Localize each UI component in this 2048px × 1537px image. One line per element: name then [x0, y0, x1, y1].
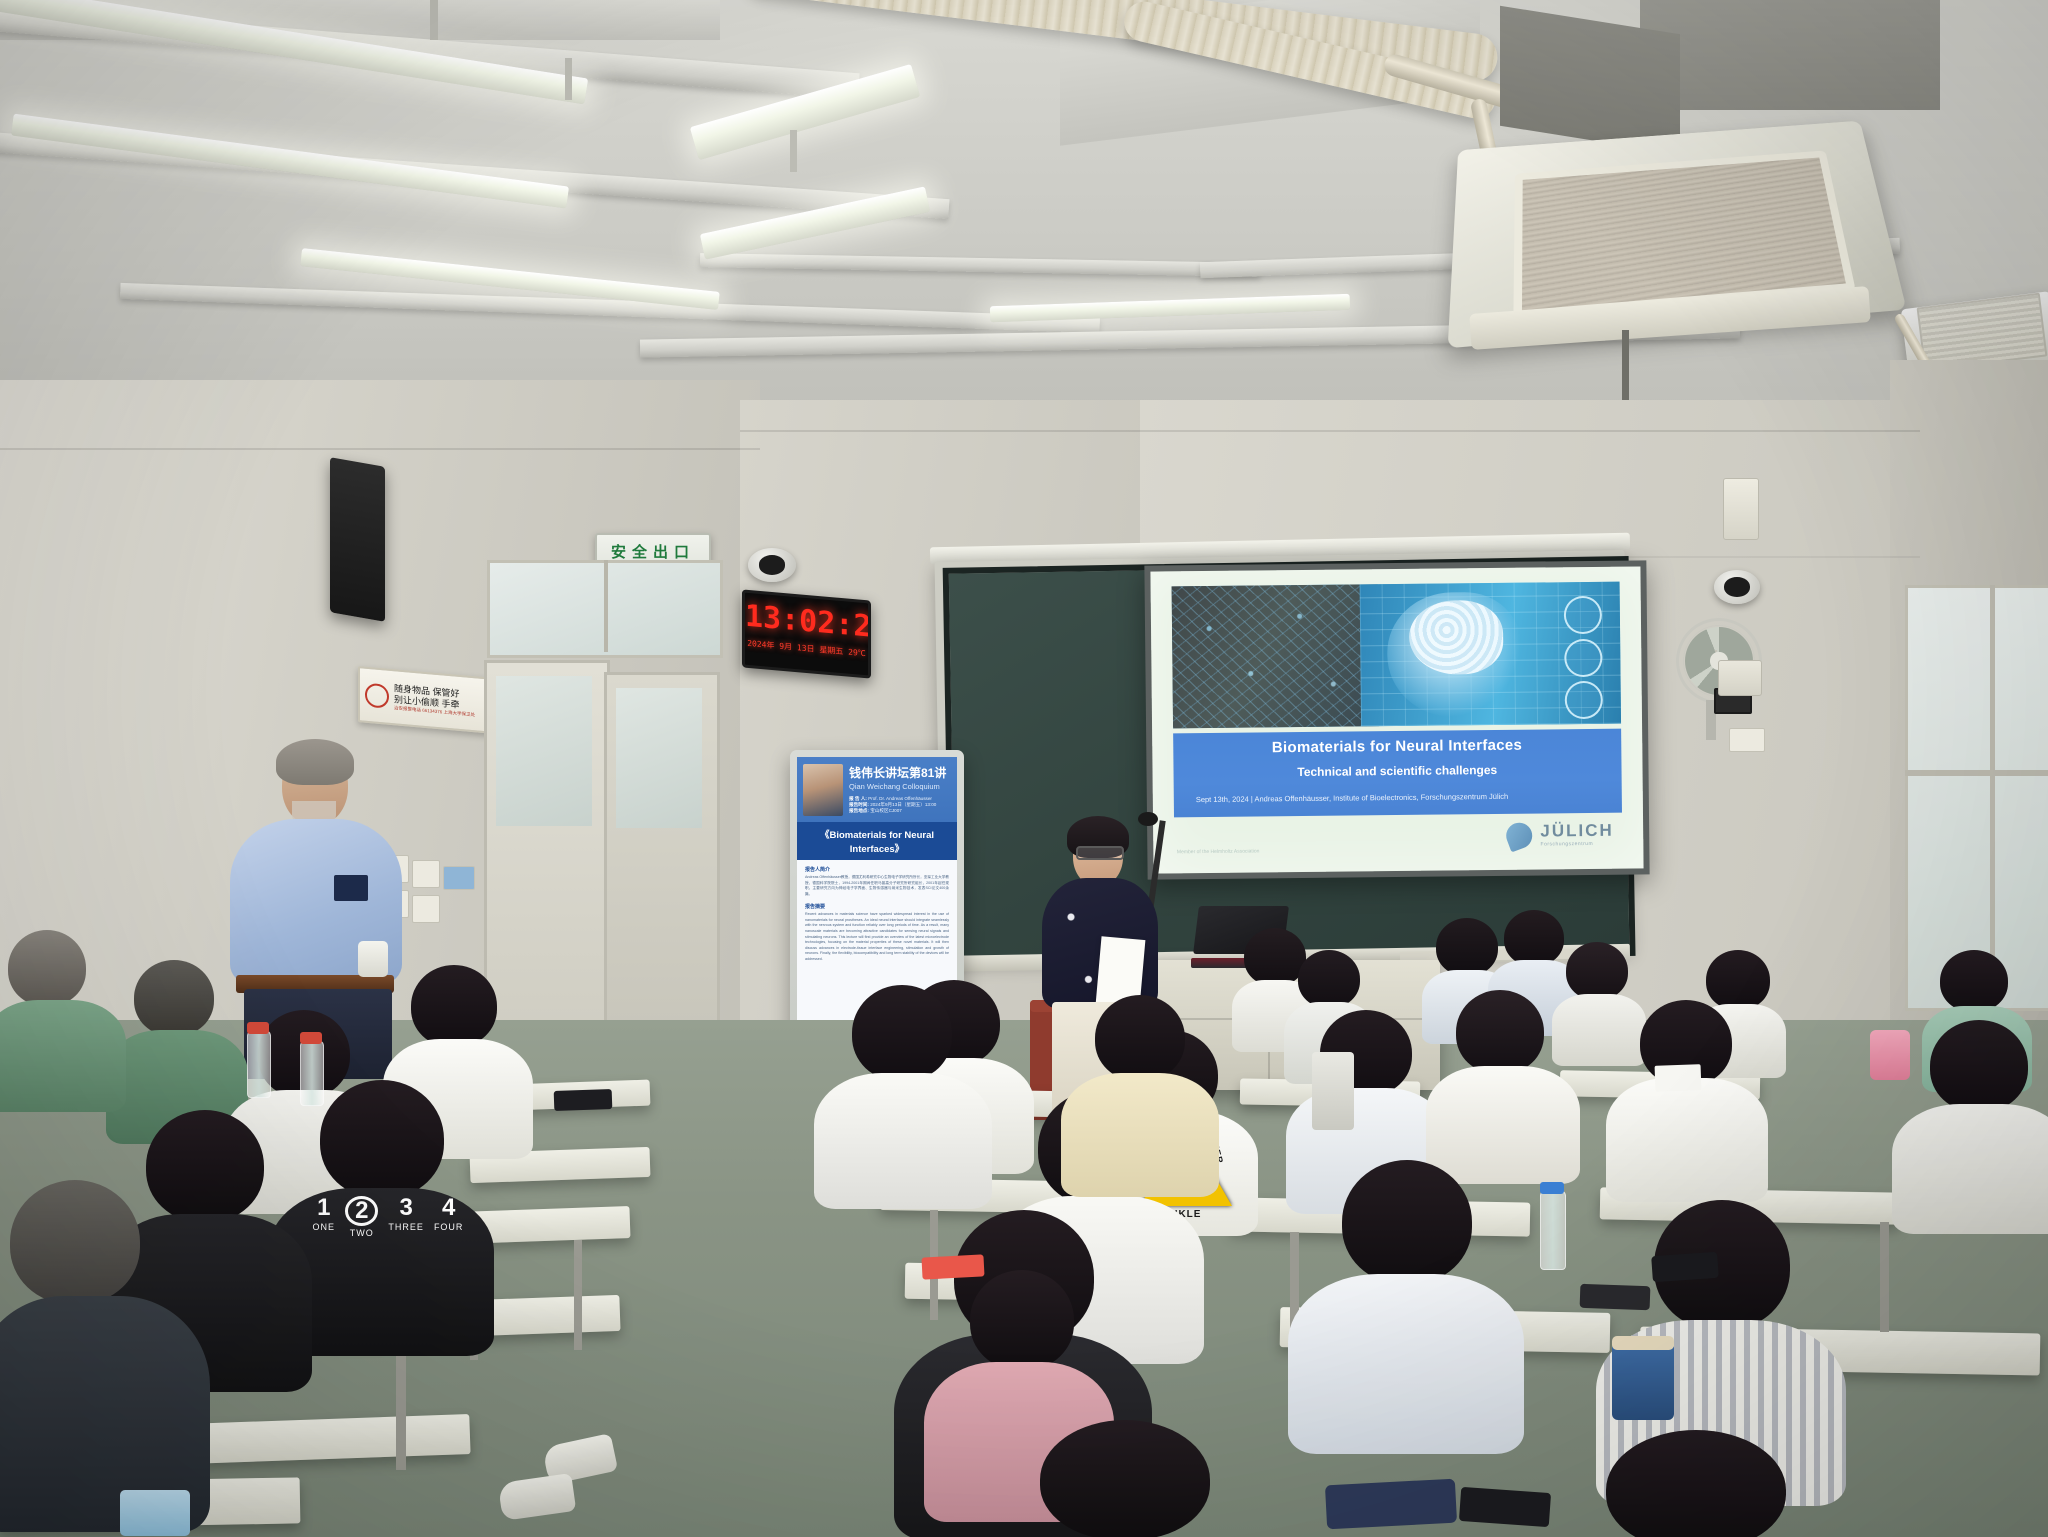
- head: [1930, 1020, 2028, 1112]
- wall-junction-box: [1723, 478, 1759, 540]
- tube-hanger: [790, 130, 797, 172]
- wall-outlet[interactable]: [1729, 728, 1765, 752]
- torso: [1288, 1274, 1524, 1454]
- head: [134, 960, 214, 1036]
- water-bottle[interactable]: [1540, 1190, 1566, 1270]
- poster-speaker-label: 报 告 人:: [849, 796, 867, 801]
- poster-place-value: 宝山校区CJ007: [870, 808, 902, 813]
- slide-title-band: Biomaterials for Neural Interfaces Techn…: [1173, 728, 1622, 817]
- dome-security-camera: [748, 548, 796, 582]
- smartphone[interactable]: [1580, 1284, 1651, 1310]
- clock-time: 13:02:23: [745, 599, 868, 645]
- head: [1436, 918, 1498, 976]
- water-bottle[interactable]: [300, 1040, 324, 1106]
- poster-bio-heading: 报告人简介: [805, 866, 949, 873]
- wall-outlet[interactable]: [412, 895, 440, 923]
- audience-member: [0, 930, 110, 1110]
- torso: [1606, 1078, 1768, 1202]
- julich-logo-sub: Forschungszentrum: [1540, 841, 1613, 848]
- julich-logo: JÜLICH Forschungszentrum: [1506, 822, 1614, 849]
- icon-badge: [1564, 639, 1602, 677]
- ceiling-slab: [1640, 0, 1940, 110]
- audience-member: [1438, 990, 1564, 1180]
- torso: [1061, 1073, 1219, 1197]
- paper-cup: [358, 941, 388, 977]
- speaker-portrait: [803, 764, 843, 816]
- poster-time-label: 报告时间:: [849, 802, 869, 807]
- head: [1298, 950, 1360, 1008]
- window-mullion: [1990, 585, 1995, 1005]
- wall-speaker: [330, 457, 385, 622]
- led-wall-clock: 13:02:23 2024年 9月 13日 星期五 29℃: [742, 589, 871, 678]
- poster-en-title: Qian Weichang Colloquium: [849, 782, 951, 791]
- audience-member: [1560, 1430, 1830, 1537]
- audience-member: [1075, 995, 1205, 1195]
- head: [852, 985, 952, 1081]
- brain-illustration: [1409, 600, 1504, 675]
- poster-abstract-heading: 报告摘要: [805, 903, 949, 910]
- audience-member: [1000, 1420, 1250, 1537]
- audience-member: [1906, 1020, 2048, 1230]
- wall-panel-box: [1718, 660, 1762, 696]
- projection-screen: Biomaterials for Neural Interfaces Techn…: [1144, 560, 1649, 879]
- eyeglasses-icon: [1076, 846, 1124, 860]
- tumbler-lid: [1612, 1336, 1674, 1350]
- tee-number-1: 1ONE: [313, 1196, 336, 1232]
- julich-logo-text: JÜLICH: [1540, 822, 1614, 840]
- tube-hanger: [565, 58, 572, 100]
- head: [1606, 1430, 1786, 1537]
- head: [8, 930, 86, 1006]
- bottle-cap: [1540, 1182, 1564, 1194]
- slide-hero-image: [1171, 582, 1621, 729]
- slide-footer: Member of the Helmholtz Association: [1177, 848, 1260, 855]
- torso: [1892, 1104, 2048, 1234]
- paper-sheet[interactable]: [1655, 1064, 1702, 1092]
- desk-leg: [1880, 1222, 1889, 1332]
- door-glass: [616, 688, 702, 828]
- audience-member: [830, 985, 975, 1205]
- numbers-tee-graphic: 1ONE 2TWO 3THREE 4FOUR: [298, 1196, 478, 1238]
- desk-leg: [574, 1240, 582, 1350]
- water-bottle[interactable]: [247, 1030, 271, 1098]
- poster-cn-title: 钱伟长讲坛第81讲: [849, 764, 951, 781]
- side-window: [1905, 585, 2048, 1011]
- smartphone[interactable]: [554, 1089, 613, 1111]
- anti-theft-notice: 随身物品 保管好 别让小偷顺 手牵 治安报警电话 66134376 上海大学保卫…: [358, 666, 494, 734]
- head: [1342, 1160, 1472, 1284]
- smartphone[interactable]: [1459, 1487, 1551, 1527]
- smartphone[interactable]: [1651, 1252, 1719, 1283]
- window-rail: [1905, 770, 2048, 776]
- poster-header: 钱伟长讲坛第81讲 Qian Weichang Colloquium 报 告 人…: [797, 757, 957, 822]
- tee-number-2: 2TWO: [345, 1196, 378, 1238]
- spacer: [1715, 650, 1717, 652]
- bottle-cap: [300, 1032, 322, 1044]
- audience-member: [1310, 1160, 1500, 1450]
- head: [411, 965, 497, 1047]
- julich-drop-icon: [1503, 819, 1536, 852]
- hair: [276, 739, 354, 785]
- dome-security-camera: [1714, 570, 1760, 604]
- face-mask[interactable]: [1325, 1479, 1457, 1530]
- poster-time-value: 2024年9月13日（星期五）13:00: [870, 802, 936, 807]
- poster-abstract-text: Recent advances in materials science hav…: [805, 912, 949, 962]
- head: [1940, 950, 2008, 1012]
- poster-place-label: 报告地点:: [849, 808, 869, 813]
- window-mullion: [604, 560, 608, 652]
- tube-hanger: [430, 0, 438, 40]
- tee-number-4: 4FOUR: [434, 1196, 464, 1232]
- head: [1504, 910, 1564, 966]
- torso: [0, 1000, 126, 1112]
- poster-bio-text: Andreas Offenhäusser教授，德国尤利希研究中心生物电子学研究所…: [805, 875, 949, 897]
- head: [1566, 942, 1628, 1000]
- slide-meta: Sept 13th, 2024 | Andreas Offenhäusser, …: [1196, 791, 1600, 804]
- door-glass: [496, 676, 592, 826]
- neuron-network-texture: [1171, 584, 1379, 728]
- poster-talk-title: 《Biomaterials for Neural Interfaces》: [797, 822, 957, 860]
- head: [1095, 995, 1185, 1081]
- wall-seam: [0, 448, 760, 450]
- torso: [814, 1073, 992, 1209]
- head: [1040, 1420, 1210, 1537]
- notice-lines: 随身物品 保管好 别让小偷顺 手牵 治安报警电话 66134376 上海大学保卫…: [394, 683, 475, 718]
- drink-cup[interactable]: [1870, 1030, 1910, 1080]
- thermos-tumbler[interactable]: [1612, 1342, 1674, 1420]
- head: [10, 1180, 140, 1304]
- audience-member: [1620, 1000, 1754, 1198]
- slide-title: Biomaterials for Neural Interfaces: [1173, 736, 1621, 758]
- exit-sign-chinese: 安全出口: [611, 541, 695, 562]
- presentation-slide: Biomaterials for Neural Interfaces Techn…: [1150, 566, 1643, 873]
- audience-member: [0, 1180, 190, 1530]
- slide-subtitle: Technical and scientific challenges: [1173, 762, 1621, 781]
- pencil-case[interactable]: [921, 1254, 984, 1279]
- thermos-tumbler[interactable]: [1312, 1052, 1354, 1130]
- seal-icon: [365, 683, 389, 709]
- bottle-cap: [247, 1022, 269, 1034]
- head: [1456, 990, 1544, 1074]
- wall-seam: [740, 430, 1920, 432]
- shirt-pocket: [334, 875, 368, 901]
- wall-outlet[interactable]: [412, 860, 440, 888]
- plastic-bag[interactable]: [120, 1490, 190, 1536]
- network-port[interactable]: [443, 866, 475, 890]
- tee-number-3: 3THREE: [388, 1196, 424, 1232]
- head: [320, 1080, 444, 1198]
- poster-speaker-value: Prof. Dr. Andreas Offenhäusser: [868, 796, 932, 801]
- head: [970, 1270, 1074, 1370]
- lecture-hall-photo: 安全出口 EXIT 13:02:23 2024年 9月 13日 星期五 29℃ …: [0, 0, 2048, 1537]
